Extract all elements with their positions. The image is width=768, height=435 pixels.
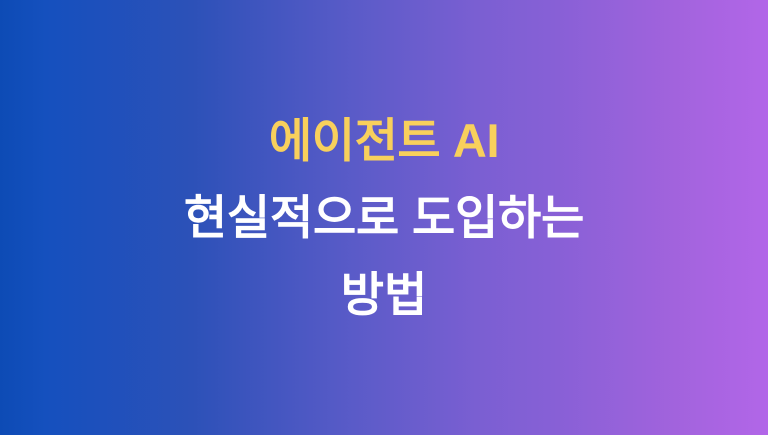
headline-block: 에이전트 AI 현실적으로 도입하는 방법 [0, 117, 768, 318]
headline-line-3: 방법 [0, 271, 768, 318]
headline-line-2: 현실적으로 도입하는 [0, 194, 768, 241]
title-banner: 에이전트 AI 현실적으로 도입하는 방법 [0, 0, 768, 435]
headline-line-1: 에이전트 AI [0, 117, 768, 164]
